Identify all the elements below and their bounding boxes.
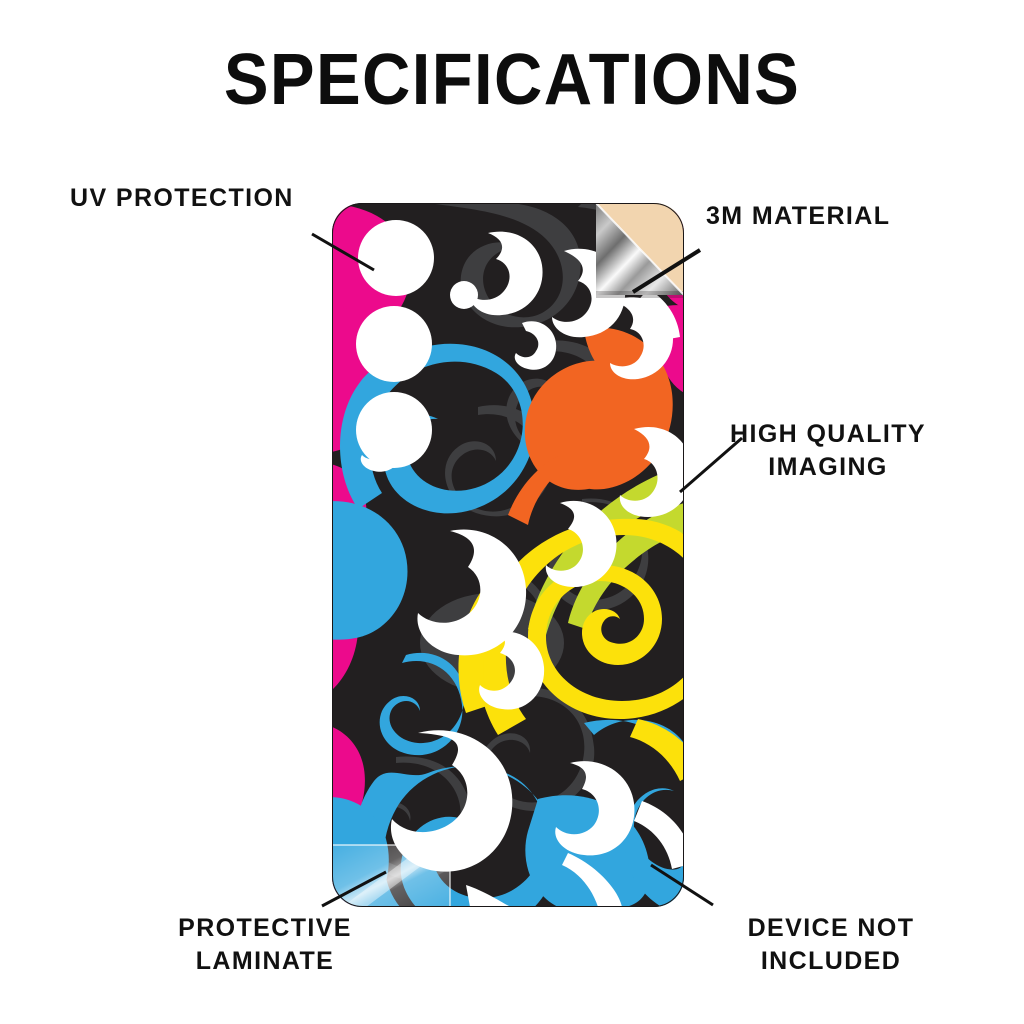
camera-cutout-3 — [356, 392, 432, 468]
callout-uv-protection: UV PROTECTION — [70, 182, 294, 215]
callout-protective-laminate: PROTECTIVE LAMINATE — [143, 912, 387, 978]
callout-high-quality-imaging: HIGH QUALITY IMAGING — [703, 418, 953, 484]
phone-skin-product-image — [332, 203, 684, 907]
page-title: SPECIFICATIONS — [36, 44, 988, 116]
callout-device-not-included: DEVICE NOT INCLUDED — [703, 912, 959, 978]
camera-cutout-1 — [358, 220, 434, 296]
peel-corner-3m-material — [596, 203, 684, 298]
flash-cutout — [450, 281, 478, 309]
camera-cutout-2 — [356, 306, 432, 382]
phone-skin-illustration — [332, 203, 684, 907]
specifications-page: SPECIFICATIONS — [0, 0, 1024, 1024]
callout-3m-material: 3M MATERIAL — [706, 200, 890, 233]
peel-corner-protective-laminate — [332, 843, 452, 907]
